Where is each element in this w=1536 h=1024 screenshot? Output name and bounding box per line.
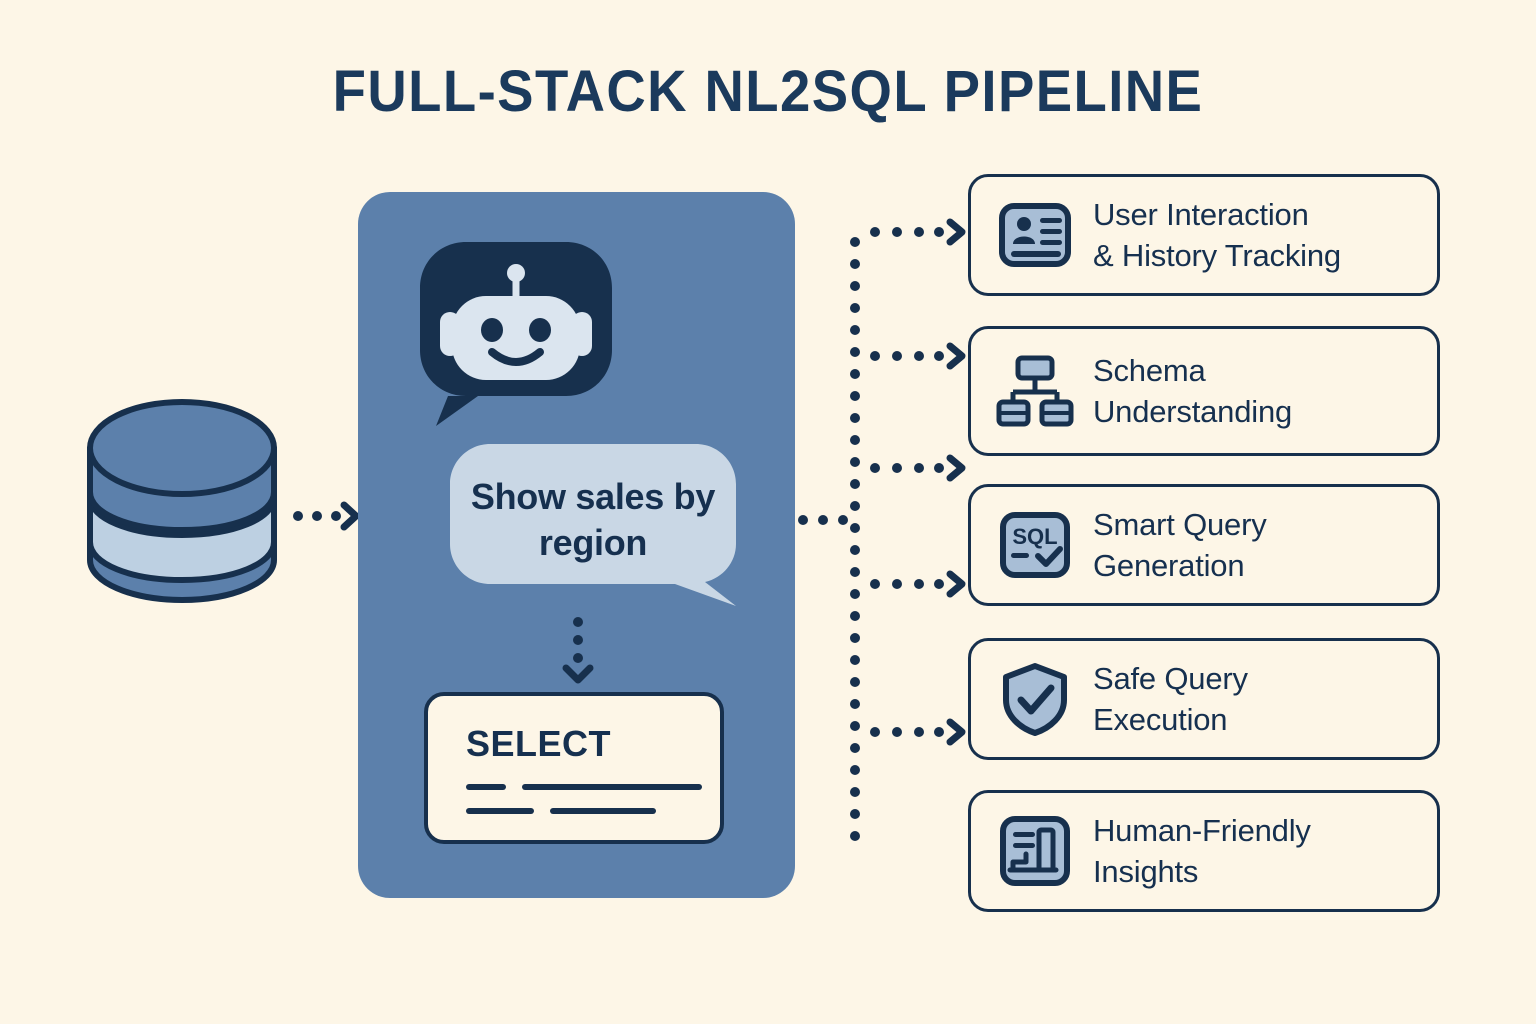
sql-badge-icon: SQL [995,505,1075,585]
card-human-friendly-insights[interactable]: Human-Friendly Insights [968,790,1440,912]
sql-keyword-label: SELECT [466,723,611,765]
sql-query-card: SELECT [424,692,724,844]
page-title: FULL-STACK NL2SQL PIPELINE [46,58,1490,125]
schema-tree-icon [995,351,1075,431]
card-smart-query-generation[interactable]: SQL Smart Query Generation [968,484,1440,606]
database-icon [84,392,280,617]
card-line-1: Safe Query [1093,658,1248,699]
connector-lines [795,180,985,900]
card-line-2: Execution [1093,699,1248,740]
card-label-user-interaction: User Interaction & History Tracking [1093,194,1341,276]
card-label-safe-query-execution: Safe Query Execution [1093,658,1248,740]
user-speech-bubble: Show sales by region [450,444,755,612]
arrow-message-to-query [548,616,608,688]
bar-chart-report-icon [995,811,1075,891]
code-line-1b [522,784,702,790]
user-message-text: Show sales by region [450,474,736,566]
database-cylinder [84,392,280,617]
svg-text:SQL: SQL [1012,524,1057,549]
card-label-smart-query-generation: Smart Query Generation [1093,504,1267,586]
arrow-database-to-panel [292,496,362,536]
diagram-canvas: FULL-STACK NL2SQL PIPELINE [0,0,1536,1024]
card-user-interaction[interactable]: User Interaction & History Tracking [968,174,1440,296]
card-safe-query-execution[interactable]: Safe Query Execution [968,638,1440,760]
card-line-1: User Interaction [1093,194,1341,235]
shield-check-icon [995,659,1075,739]
robot-speech-bubble [418,240,614,430]
card-schema-understanding[interactable]: Schema Understanding [968,326,1440,456]
card-line-2: Understanding [1093,391,1292,432]
code-line-2a [466,808,534,814]
card-line-1: Human-Friendly [1093,810,1311,851]
card-label-schema-understanding: Schema Understanding [1093,350,1292,432]
card-line-2: Insights [1093,851,1311,892]
code-line-1a [466,784,506,790]
code-line-2b [550,808,656,814]
card-line-1: Schema [1093,350,1292,391]
card-line-2: & History Tracking [1093,235,1341,276]
robot-face-icon [418,240,614,430]
id-card-icon [995,195,1075,275]
user-message-line1: Show sales by region [471,476,715,563]
card-line-1: Smart Query [1093,504,1267,545]
chat-panel: Show sales by region SELECT [358,192,795,898]
card-line-2: Generation [1093,545,1267,586]
card-label-human-friendly-insights: Human-Friendly Insights [1093,810,1311,892]
